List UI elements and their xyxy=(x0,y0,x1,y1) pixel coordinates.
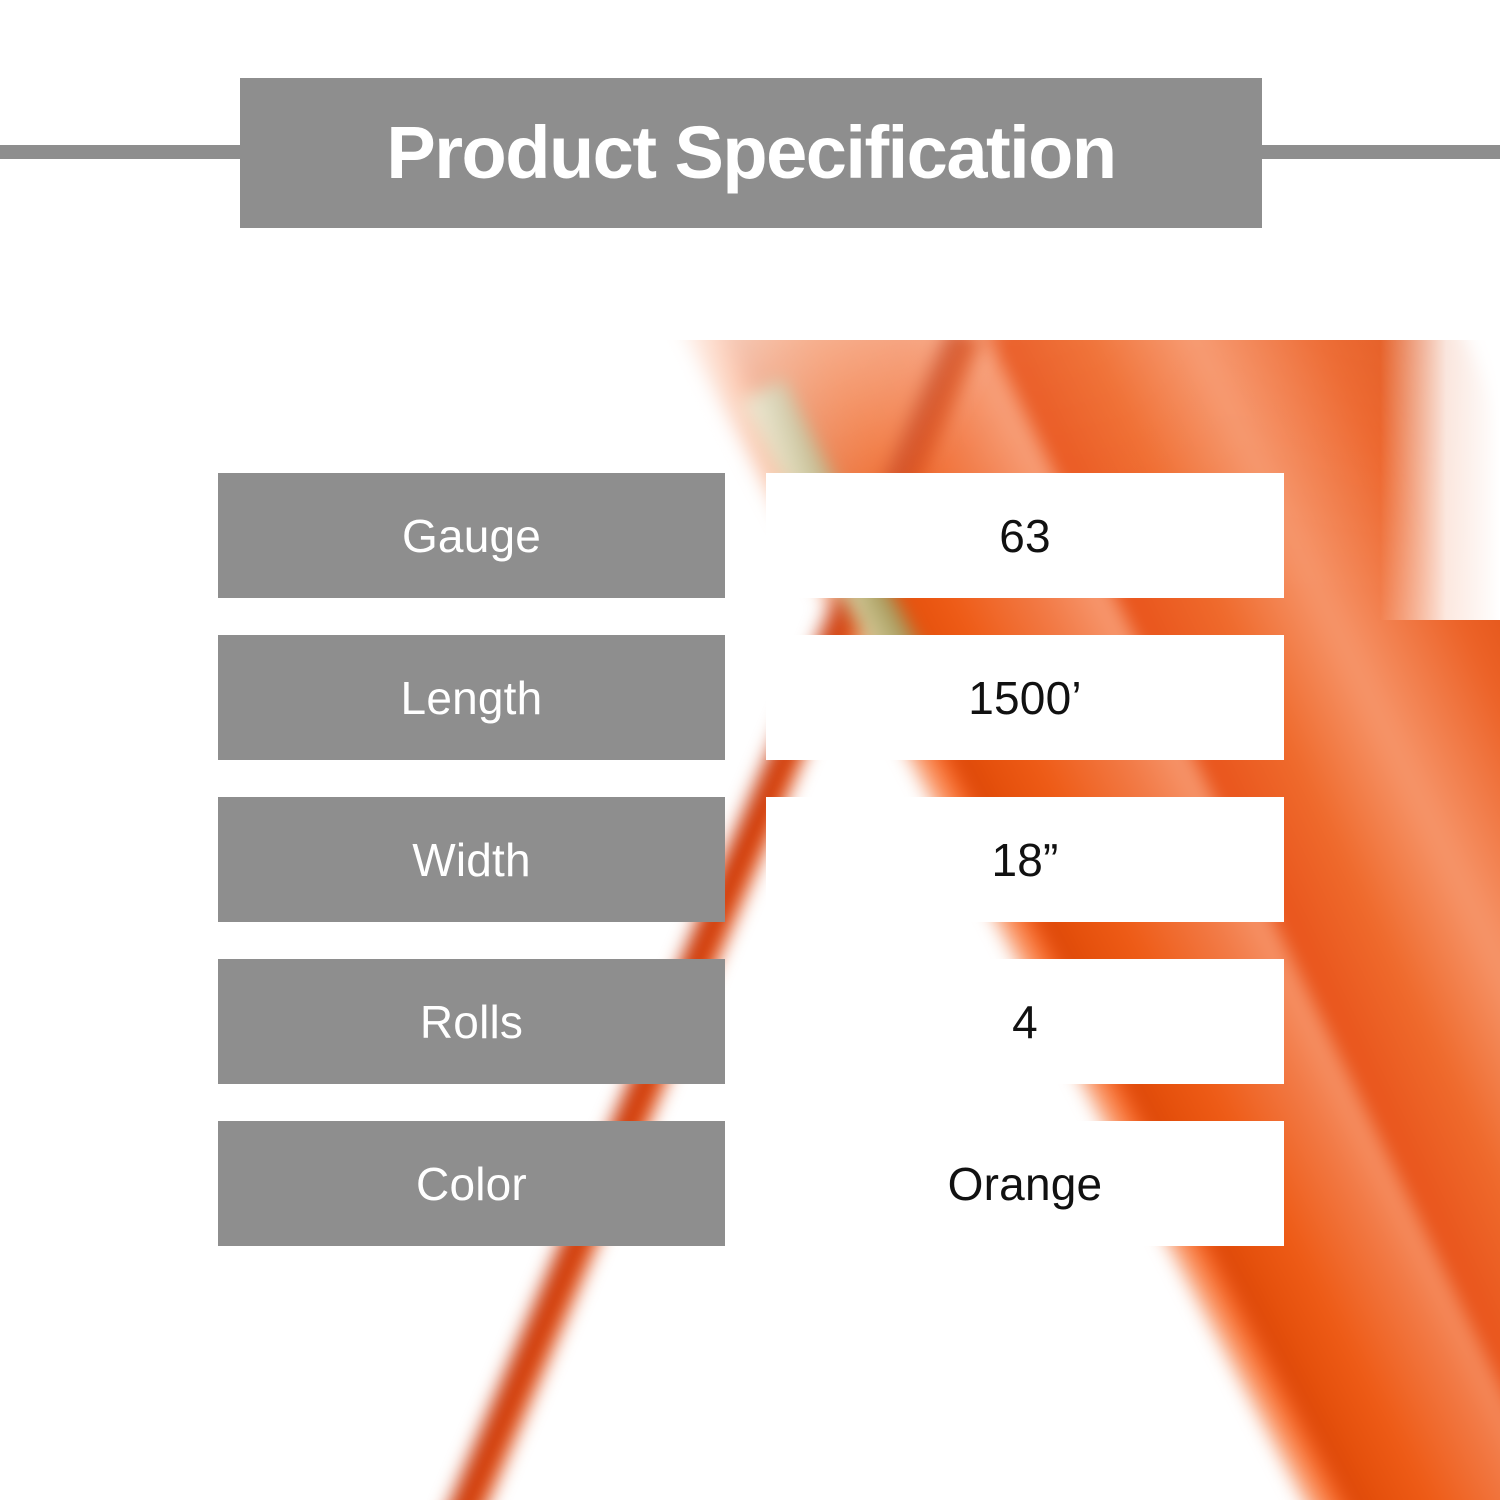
table-row: Color Orange xyxy=(218,1121,1284,1246)
spec-value-text: 4 xyxy=(1012,999,1038,1045)
spec-label-length: Length xyxy=(218,635,725,760)
spec-value-text: 18” xyxy=(991,837,1058,883)
spec-label-text: Rolls xyxy=(420,999,523,1045)
spec-label-rolls: Rolls xyxy=(218,959,725,1084)
page-title: Product Specification xyxy=(386,116,1115,190)
spec-value-text: 63 xyxy=(999,513,1051,559)
specification-table: Gauge 63 Length 1500’ Width 18” Rol xyxy=(218,473,1284,1246)
spec-value-gauge: 63 xyxy=(766,473,1284,598)
photo-right-mask xyxy=(1380,0,1500,620)
spec-value-text: 1500’ xyxy=(968,675,1082,721)
spec-value-rolls: 4 xyxy=(766,959,1284,1084)
spec-label-gauge: Gauge xyxy=(218,473,725,598)
spec-label-text: Color xyxy=(416,1161,527,1207)
spec-value-text: Orange xyxy=(948,1161,1103,1207)
table-row: Rolls 4 xyxy=(218,959,1284,1084)
product-specification-page: Product Specification Gauge 63 Length 15… xyxy=(0,0,1500,1500)
table-row: Width 18” xyxy=(218,797,1284,922)
table-row: Gauge 63 xyxy=(218,473,1284,598)
spec-label-text: Width xyxy=(412,837,531,883)
spec-value-width: 18” xyxy=(766,797,1284,922)
spec-label-width: Width xyxy=(218,797,725,922)
spec-label-color: Color xyxy=(218,1121,725,1246)
spec-label-text: Gauge xyxy=(402,513,541,559)
table-row: Length 1500’ xyxy=(218,635,1284,760)
title-banner: Product Specification xyxy=(240,78,1262,228)
spec-label-text: Length xyxy=(401,675,543,721)
spec-value-length: 1500’ xyxy=(766,635,1284,760)
spec-value-color: Orange xyxy=(766,1121,1284,1246)
